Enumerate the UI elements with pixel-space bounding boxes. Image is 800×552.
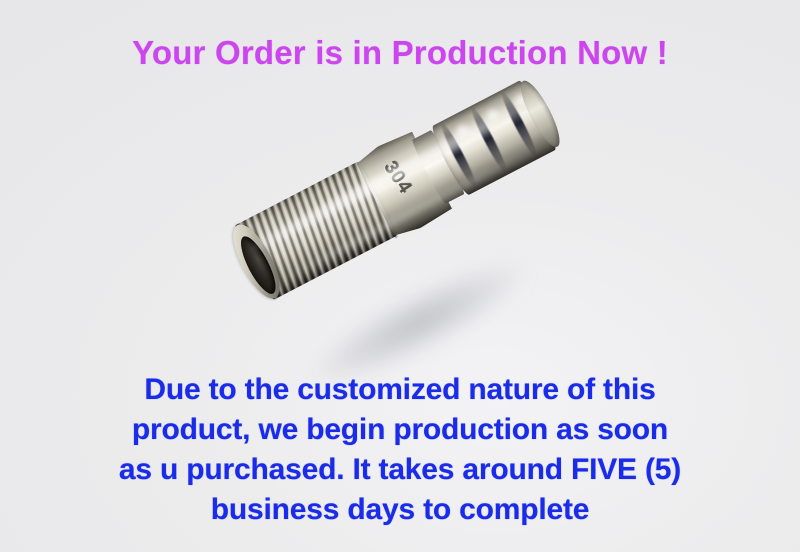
barb-section xyxy=(428,78,560,197)
hose-barb-fitting: 304 xyxy=(223,71,565,309)
announcement-banner: Your Order is in Production Now ! 304 xyxy=(0,0,800,552)
notice-line: business days to complete xyxy=(0,490,800,530)
under-highlight xyxy=(268,136,554,290)
hex-flange xyxy=(354,129,453,240)
barb-ridge-highlight xyxy=(448,118,478,148)
barb-ridge-highlight xyxy=(479,102,509,132)
barb-tip xyxy=(514,76,566,151)
page-title: Your Order is in Production Now ! xyxy=(0,34,800,72)
specular-highlight xyxy=(244,93,543,257)
bore-rim xyxy=(224,218,288,305)
barb-shoulder xyxy=(410,129,466,205)
barb-groove xyxy=(468,105,510,175)
bore-opening xyxy=(235,232,282,298)
threaded-npt-section xyxy=(230,159,402,303)
notice-line: as u purchased. It takes around FIVE (5) xyxy=(0,450,800,490)
barb-groove xyxy=(438,121,480,191)
production-notice: Due to the customized nature of this pro… xyxy=(0,370,800,530)
notice-line: product, we begin production as soon xyxy=(0,410,800,450)
notice-line: Due to the customized nature of this xyxy=(0,370,800,410)
material-grade-stamp: 304 xyxy=(378,158,415,199)
hex-edge-highlight xyxy=(355,159,398,238)
barb-groove xyxy=(498,90,540,160)
barb-ridge-highlight xyxy=(507,87,537,117)
